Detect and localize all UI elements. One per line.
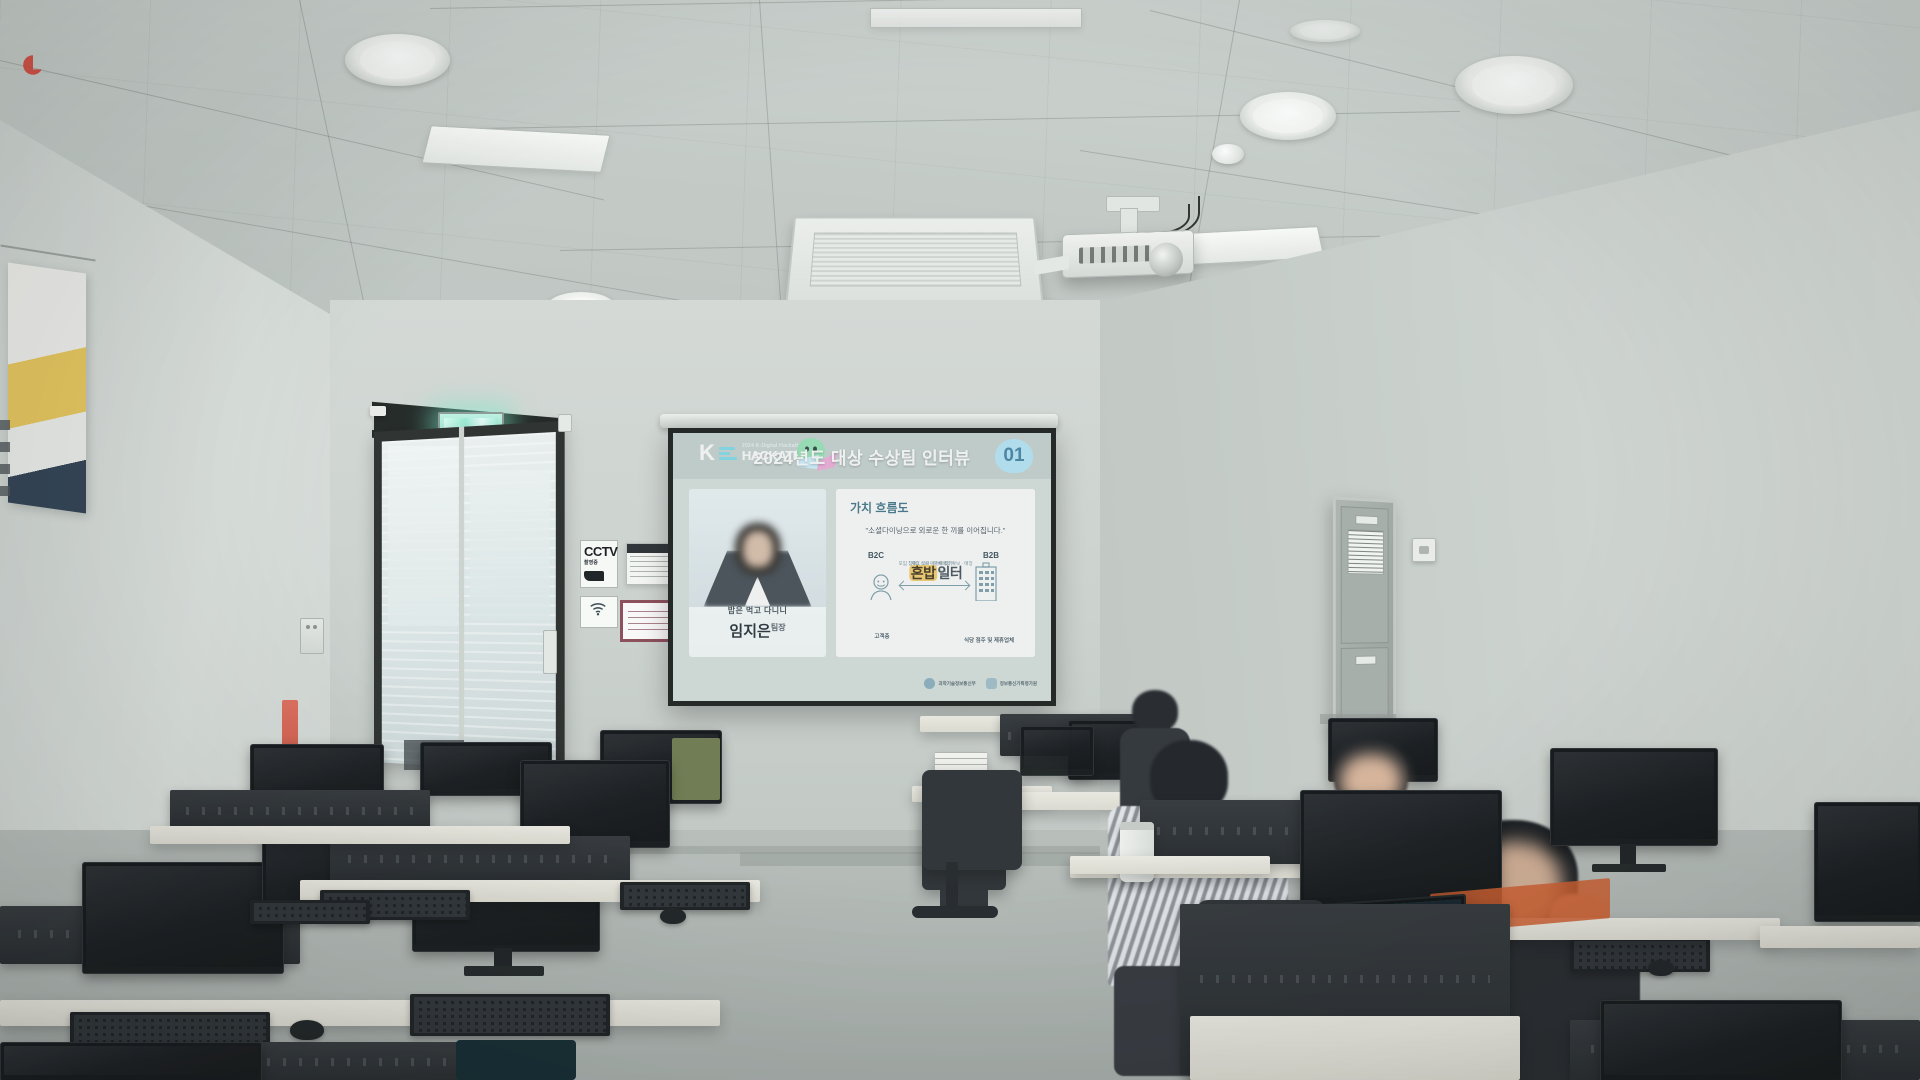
person-icon — [866, 571, 896, 601]
monitor-stand — [494, 948, 512, 968]
camera-icon — [584, 571, 604, 581]
computer-desk — [1070, 856, 1270, 874]
slide-footer-logos: 과학기술정보통신부 정보통신기획평가원 — [924, 678, 1037, 689]
person-head — [1132, 690, 1178, 732]
speaker-card: 밥은 먹고 다니니 임지은팀장 — [689, 489, 826, 657]
iitp-logo: 정보통신기획평가원 — [986, 678, 1037, 689]
projection-screen-surface: K 2024 K-Digital Hackathon HACKATHON — [673, 433, 1051, 701]
presentation-slide: K 2024 K-Digital Hackathon HACKATHON — [673, 433, 1051, 701]
diagram-left-icon-caption: 고객층 — [854, 633, 910, 641]
desk-partition — [170, 790, 430, 830]
diagram-center-badge: 혼밥일터 — [909, 563, 963, 583]
speaker-person-text: 임지은 — [729, 623, 770, 640]
keyboard[interactable] — [250, 900, 370, 924]
cabinet-upper-door[interactable] — [1341, 506, 1389, 644]
smoke-detector — [1212, 144, 1244, 164]
desktop-monitor — [1550, 748, 1718, 846]
ceiling-projector — [1062, 230, 1194, 279]
cabinet-notice — [1348, 529, 1384, 575]
speaker-face-blurred — [743, 531, 773, 567]
diagram-arrow-right — [923, 585, 969, 586]
diagram-quote: "소셜다이닝으로 외로운 한 끼를 이어집니다." — [836, 525, 1035, 536]
panel-indicator — [313, 625, 317, 629]
recessed-ceiling-light — [1240, 92, 1336, 140]
classroom-photo: CCTV 촬영중 K — [0, 0, 1920, 1080]
projection-screen-roller[interactable] — [660, 414, 1058, 428]
projection-screen: K 2024 K-Digital Hackathon HACKATHON — [668, 428, 1056, 706]
projector-ports — [1079, 245, 1151, 264]
speaker-name-block: 밥은 먹고 다니니 임지은팀장 — [689, 605, 826, 641]
swirl-mark-icon — [924, 678, 935, 689]
keyboard[interactable] — [1570, 938, 1710, 972]
speaker-role: 팀장 — [771, 623, 786, 632]
page-number-text: 01 — [1003, 445, 1024, 467]
diagram-left-segment: B2C — [868, 551, 884, 560]
cctv-sign-title: CCTV — [584, 544, 614, 559]
desktop-monitor — [0, 1042, 262, 1080]
green-chair-back — [672, 738, 720, 800]
ceiling-cassette-ac — [786, 217, 1044, 302]
monitor-foot — [464, 966, 544, 976]
building-icon — [971, 561, 1001, 601]
utility-cabinet[interactable] — [1333, 496, 1396, 729]
cctv-sign-subtitle: 촬영중 — [584, 559, 614, 566]
recessed-ceiling-light — [345, 34, 450, 86]
speaker-person-name: 임지은팀장 — [689, 620, 826, 641]
chair-column — [946, 862, 958, 912]
corridor-view — [388, 446, 458, 626]
monitor-foot — [1592, 864, 1666, 872]
office-chair[interactable] — [922, 770, 1022, 870]
pc-tower — [456, 1040, 576, 1080]
recessed-ceiling-light — [1455, 56, 1573, 114]
center-badge-suffix: 일터 — [938, 565, 963, 581]
ministry-logo-text: 과학기술정보통신부 — [938, 681, 975, 687]
diagram-right-icon-caption: 식당 점주 및 제휴업체 — [961, 637, 1017, 645]
door-handle-plate[interactable] — [543, 630, 557, 674]
computer-desk — [1760, 926, 1920, 948]
keyboard[interactable] — [620, 882, 750, 910]
projector-lens — [1149, 242, 1183, 277]
computer-desk — [150, 826, 570, 844]
cabinet-label-plate — [1355, 655, 1376, 665]
wall-panel-box[interactable] — [300, 618, 324, 654]
diagram-heading: 가치 흐름도 — [850, 499, 909, 516]
chair-base — [912, 906, 998, 918]
watermark-icon — [20, 52, 46, 78]
wall-label-strip — [0, 420, 10, 496]
cabinet-label-plate — [1355, 515, 1378, 525]
computer-desk — [1190, 1016, 1520, 1080]
diagram-right-segment: B2B — [983, 551, 999, 560]
wifi-icon — [587, 600, 609, 618]
door-mullion — [459, 427, 464, 768]
baseboard — [740, 852, 1100, 866]
desktop-monitor — [1814, 802, 1920, 922]
ac-grille — [809, 232, 1022, 286]
monitor-stand — [1620, 844, 1636, 866]
mouse[interactable] — [660, 908, 686, 924]
wall-cctv-camera — [370, 406, 386, 416]
wall-outlet[interactable] — [1412, 538, 1436, 562]
tumbler-lid — [1120, 822, 1154, 830]
corridor-view — [470, 470, 550, 620]
speaker-photo — [689, 489, 826, 607]
fluorescent-troffer — [870, 8, 1082, 28]
book-mark-icon — [986, 678, 997, 689]
desktop-monitor — [1600, 1000, 1842, 1080]
iitp-logo-text: 정보통신기획평가원 — [1000, 681, 1037, 687]
recessed-ceiling-light — [1290, 20, 1360, 42]
hanging-banner — [8, 263, 86, 514]
ministry-logo: 과학기술정보통신부 — [924, 678, 975, 689]
wifi-notice — [580, 596, 618, 628]
panel-indicator — [306, 625, 310, 629]
center-badge-highlight: 혼밥 — [909, 565, 938, 581]
mouse[interactable] — [290, 1020, 324, 1040]
mouse[interactable] — [1648, 960, 1674, 976]
speaker-team-name: 밥은 먹고 다니니 — [689, 605, 826, 616]
keyboard[interactable] — [410, 994, 610, 1036]
value-stream-card: 가치 흐름도 "소셜다이닝으로 외로운 한 끼를 이어집니다." B2C B2B… — [836, 489, 1035, 657]
cctv-sign: CCTV 촬영중 — [580, 540, 618, 588]
slide-page-number: 01 — [993, 437, 1035, 475]
desktop-monitor — [1020, 726, 1094, 776]
wall-sensor — [558, 414, 572, 432]
